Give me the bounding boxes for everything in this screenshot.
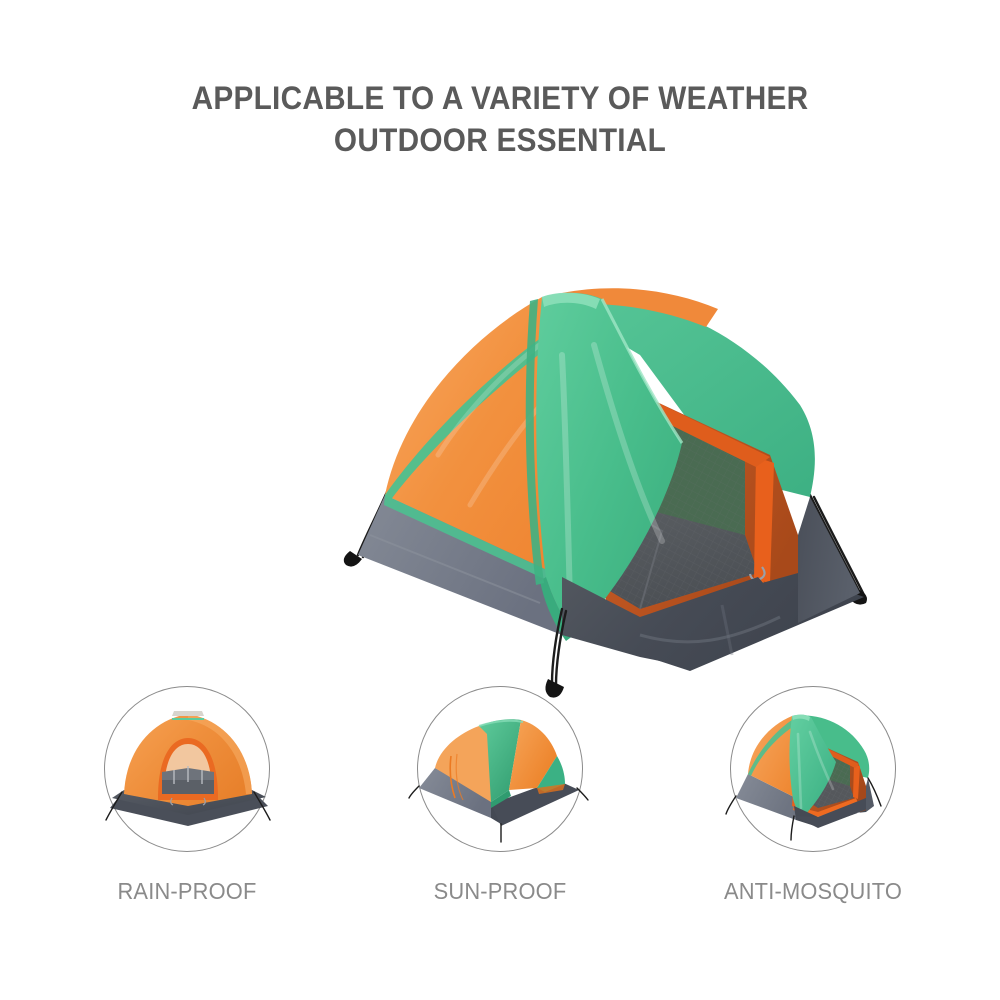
headline-line-1: APPLICABLE TO A VARIETY OF WEATHER: [192, 80, 809, 116]
feature-thumb-sun-proof: [405, 694, 595, 844]
feature-label-rain-proof: RAIN-PROOF: [68, 878, 306, 905]
feature-item-rain-proof[interactable]: RAIN-PROOF: [62, 686, 312, 936]
tent-angled-closed-illustration: [405, 694, 595, 844]
page-title: APPLICABLE TO A VARIETY OF WEATHER OUTDO…: [35, 78, 965, 161]
feature-label-anti-mosquito: ANTI-MOSQUITO: [694, 878, 932, 905]
tent-skirt-right: [798, 497, 860, 623]
feature-thumb-rain-proof: [92, 694, 282, 844]
feature-label-sun-proof: SUN-PROOF: [381, 878, 619, 905]
tent-angled-open-illustration: [718, 694, 908, 844]
feature-thumb-anti-mosquito: [718, 694, 908, 844]
product-feature-banner: APPLICABLE TO A VARIETY OF WEATHER OUTDO…: [0, 0, 1000, 1000]
feature-item-sun-proof[interactable]: SUN-PROOF: [375, 686, 625, 936]
feature-item-anti-mosquito[interactable]: ANTI-MOSQUITO: [688, 686, 938, 936]
feature-row: RAIN-PROOF: [0, 686, 1000, 936]
headline-line-2: OUTDOOR ESSENTIAL: [35, 120, 965, 162]
tent-front-view-illustration: [92, 694, 282, 844]
hero-tent-illustration: [170, 205, 890, 705]
hero-tent-image: [170, 205, 890, 705]
